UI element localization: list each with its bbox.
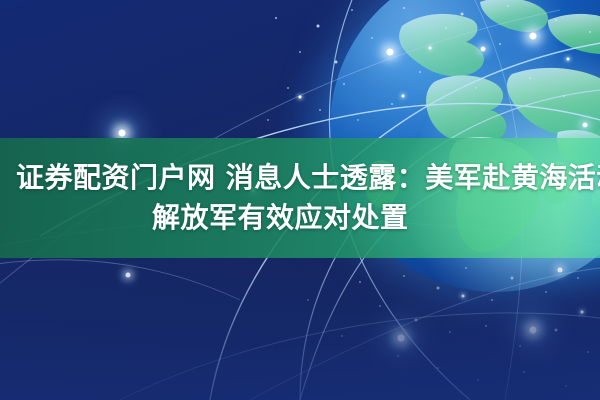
- network-node: [567, 58, 570, 61]
- network-node: [481, 47, 486, 52]
- network-node: [583, 123, 588, 128]
- headline-line-1: 证券配资门户网 消息人士透露：美军赴黄海活动: [0, 158, 600, 198]
- network-node: [558, 268, 563, 273]
- network-node: [530, 327, 537, 334]
- network-node: [119, 130, 126, 137]
- network-node: [126, 273, 131, 278]
- network-node: [402, 95, 405, 98]
- network-node: [398, 335, 405, 342]
- network-node: [581, 311, 584, 314]
- news-banner-image: 证券配资门户网 消息人士透露：美军赴黄海活动 解放军有效应对处置: [0, 0, 600, 400]
- network-node: [462, 295, 465, 298]
- headline-block: 证券配资门户网 消息人士透露：美军赴黄海活动 解放军有效应对处置: [0, 138, 600, 258]
- network-node: [429, 47, 432, 50]
- network-node: [530, 33, 537, 40]
- headline-line-2: 解放军有效应对处置: [0, 198, 600, 238]
- network-node: [299, 96, 302, 99]
- network-node: [387, 49, 394, 56]
